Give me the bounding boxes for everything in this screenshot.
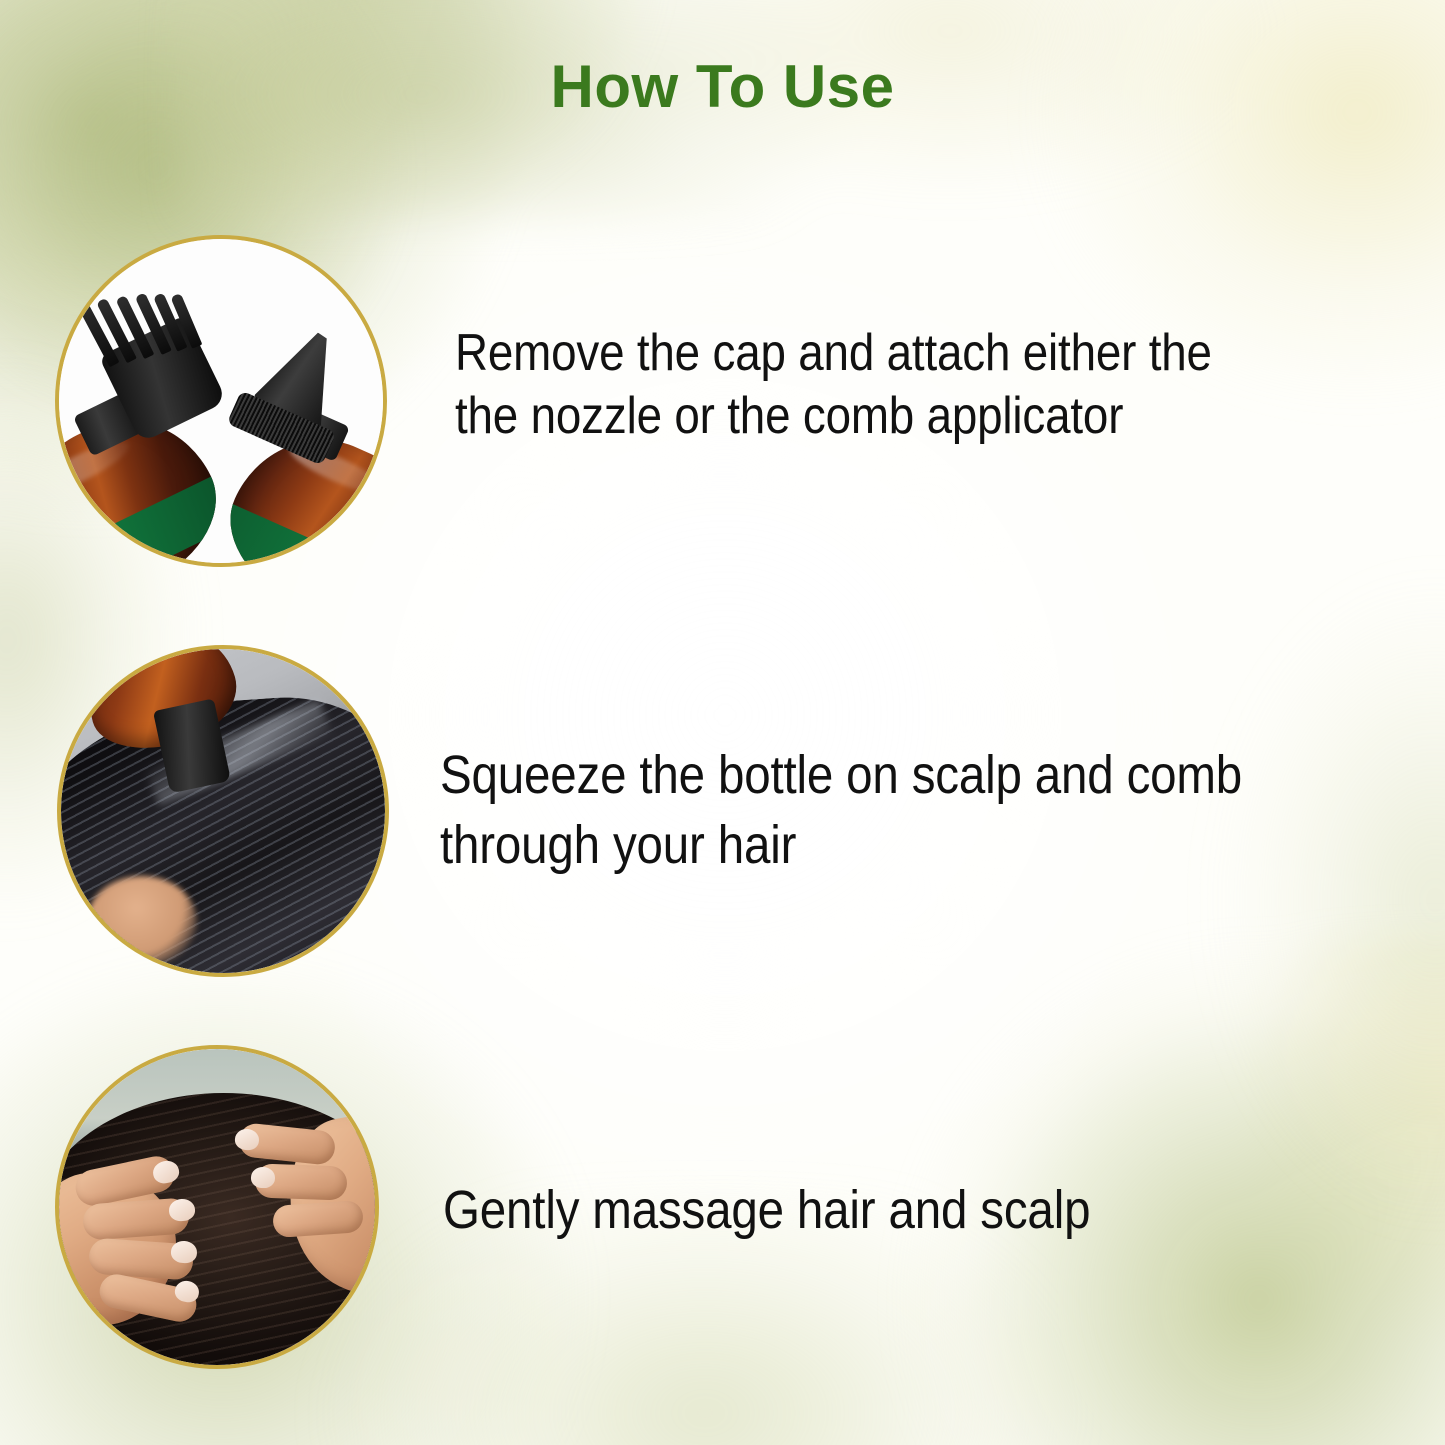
fingernail — [251, 1167, 276, 1189]
bottle-green-label — [207, 494, 383, 563]
step-2-photo — [57, 645, 389, 977]
infographic-canvas: How To Use — [0, 0, 1445, 1445]
step-2-photo-image — [61, 649, 385, 973]
background-wash-right — [1165, 520, 1445, 1280]
right-hand-finger — [272, 1200, 364, 1238]
forehead-skin — [87, 876, 197, 967]
step-1-photo — [55, 235, 387, 567]
step-1-photo-image — [59, 239, 383, 563]
step-3-photo — [55, 1045, 379, 1369]
step-1-instruction: Remove the cap and attach either the the… — [455, 322, 1344, 449]
step-3-instruction: Gently massage hair and scalp — [443, 1178, 1358, 1244]
step-2-instruction: Squeeze the bottle on scalp and comb thr… — [440, 740, 1355, 880]
page-title: How To Use — [0, 52, 1445, 121]
step-3-photo-image — [59, 1049, 375, 1365]
